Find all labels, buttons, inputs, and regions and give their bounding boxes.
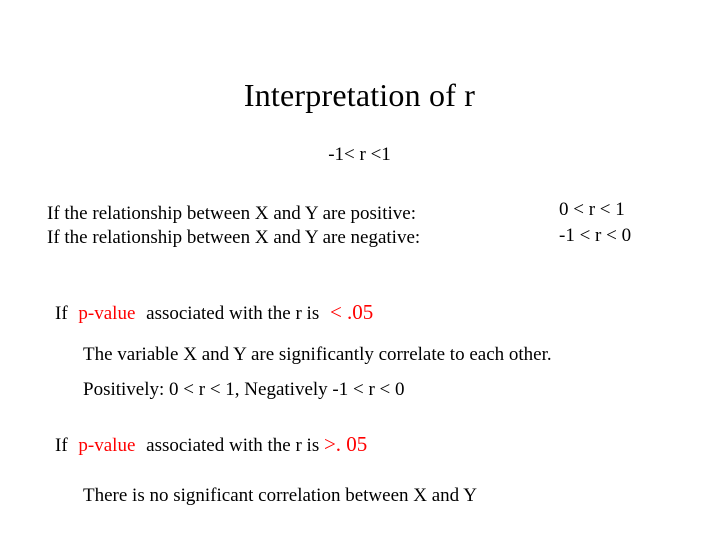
rule-one-body-line-1: The variable X and Y are significantly c… xyxy=(83,343,552,367)
rule-one-threshold: < .05 xyxy=(324,300,373,324)
page-title: Interpretation of r xyxy=(0,76,719,114)
condition-list: If the relationship between X and Y are … xyxy=(47,202,420,250)
formula-positive-range: 0 < r < 1 xyxy=(559,197,631,223)
rule-two-middle: associated with the r is xyxy=(140,435,319,456)
rule-two-lead: If xyxy=(55,435,68,456)
formula-list: 0 < r < 1 -1 < r < 0 xyxy=(559,197,631,249)
rule-significant-heading: If p-value associated with the r is < .0… xyxy=(55,300,373,326)
r-range-subtitle: -1< r <1 xyxy=(0,143,719,167)
rule-one-body-line-2: Positively: 0 < r < 1, Negatively -1 < r… xyxy=(83,378,405,402)
slide-canvas: Interpretation of r -1< r <1 If the rela… xyxy=(0,0,719,539)
condition-positive: If the relationship between X and Y are … xyxy=(47,202,420,226)
rule-two-body-line-1: There is no significant correlation betw… xyxy=(83,484,477,508)
rule-two-threshold: >. 05 xyxy=(324,432,367,456)
rule-one-lead: If xyxy=(55,303,68,324)
formula-negative-range: -1 < r < 0 xyxy=(559,223,631,249)
rule-not-significant-heading: If p-value associated with the r is >. 0… xyxy=(55,432,367,458)
condition-negative: If the relationship between X and Y are … xyxy=(47,226,420,250)
rule-one-middle: associated with the r is xyxy=(140,303,319,324)
rule-two-keyword: p-value xyxy=(72,435,135,456)
rule-one-keyword: p-value xyxy=(72,303,135,324)
